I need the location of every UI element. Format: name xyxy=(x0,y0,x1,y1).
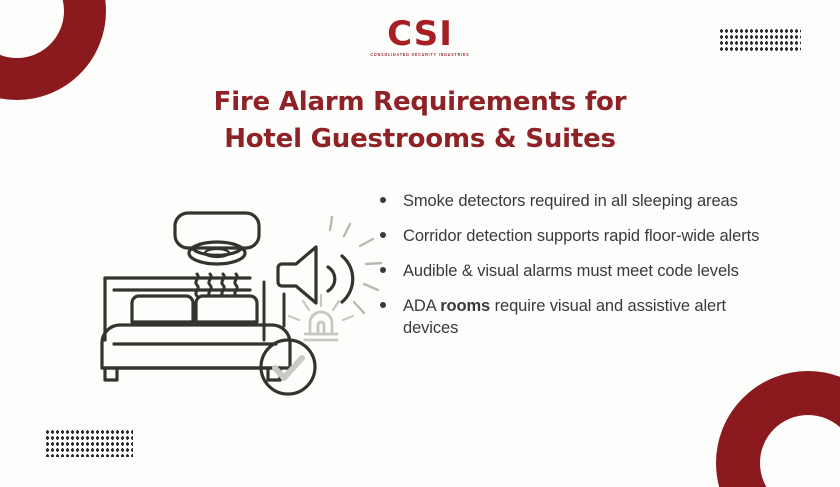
hotel-bed-pillows xyxy=(132,296,257,322)
brand-logo: CSI CONSOLIDATED SECURITY INDUSTRIES xyxy=(0,17,840,58)
list-item: Smoke detectors required in all sleeping… xyxy=(375,190,775,212)
list-item-text-lead: ADA xyxy=(403,297,440,315)
list-item-text: Audible & visual alarms must meet code l… xyxy=(403,262,739,280)
list-item: Corridor detection supports rapid floor-… xyxy=(375,225,775,247)
bullet-dot-icon xyxy=(380,197,386,203)
list-item-text: Corridor detection supports rapid floor-… xyxy=(403,227,759,245)
hotel-fire-alarm-illustration xyxy=(92,182,382,400)
slide-canvas: CSI CONSOLIDATED SECURITY INDUSTRIES Fir… xyxy=(0,0,840,487)
dot-grid-bottom-left-icon xyxy=(45,429,133,457)
bullet-dot-icon xyxy=(380,267,386,273)
page-title-line-1: Fire Alarm Requirements for xyxy=(0,84,840,121)
list-item-text: Smoke detectors required in all sleeping… xyxy=(403,192,738,210)
list-item-text-emphasis: rooms xyxy=(440,297,490,315)
list-item: Audible & visual alarms must meet code l… xyxy=(375,260,775,282)
ring-arc-bottom-right-icon xyxy=(716,371,840,487)
hotel-bed-headboard xyxy=(105,278,250,340)
bullet-dot-icon xyxy=(380,232,386,238)
page-title: Fire Alarm Requirements for Hotel Guestr… xyxy=(0,84,840,158)
bullet-dot-icon xyxy=(380,302,386,308)
logo-wordmark: CSI xyxy=(0,17,840,51)
logo-tagline: CONSOLIDATED SECURITY INDUSTRIES xyxy=(0,54,840,58)
smoke-detector-icon xyxy=(175,213,259,264)
alarm-speaker-icon xyxy=(278,217,381,313)
requirements-list: Smoke detectors required in all sleeping… xyxy=(375,190,775,340)
page-title-line-2: Hotel Guestrooms & Suites xyxy=(0,121,840,158)
list-item: ADA rooms require visual and assistive a… xyxy=(375,295,775,339)
alarm-pole-lines xyxy=(264,282,284,340)
